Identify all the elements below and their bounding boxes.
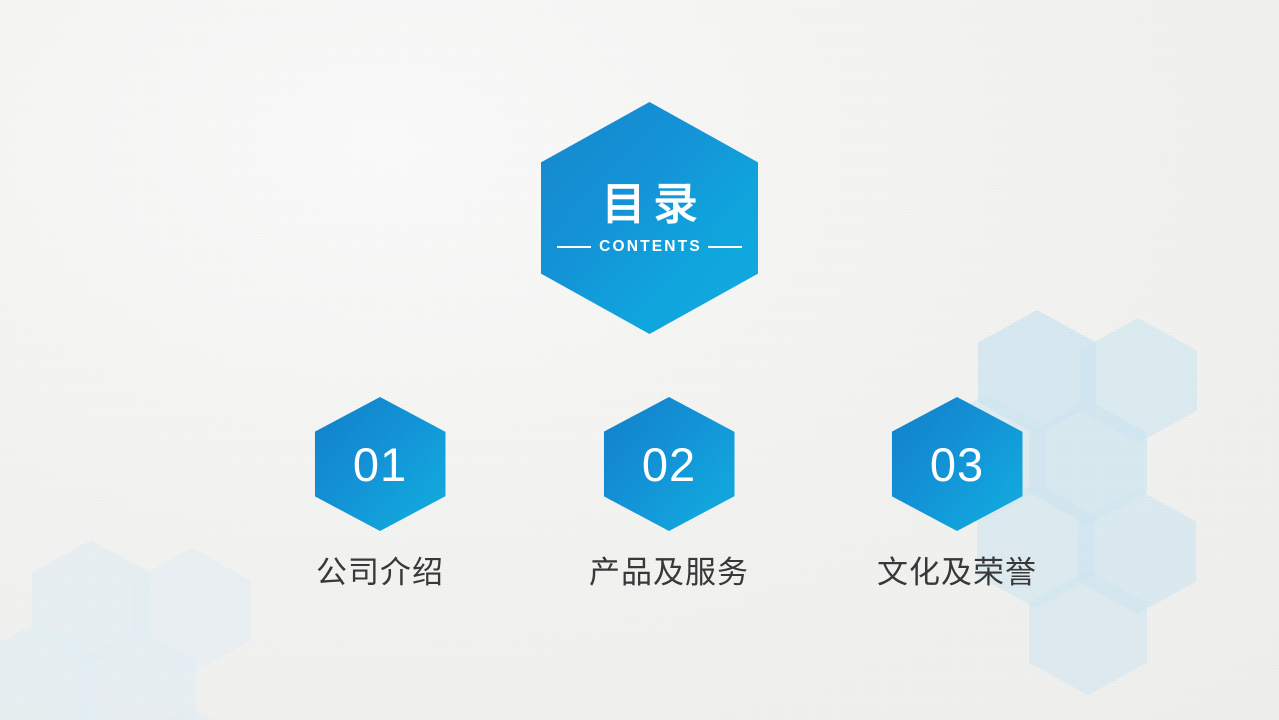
contents-hexagon-content: 目录 CONTENTS <box>541 181 758 255</box>
decorative-hexagon <box>133 548 251 673</box>
agenda-item-02-label: 产品及服务 <box>589 557 749 588</box>
contents-title: 目录 <box>594 183 706 227</box>
contents-subtitle-row: CONTENTS <box>541 239 758 255</box>
decorative-hexagon <box>1079 318 1197 443</box>
agenda-item-01[interactable]: 01 公司介绍 <box>285 397 475 588</box>
decorative-hexagon <box>78 628 196 720</box>
agenda-item-03[interactable]: 03 文化及荣誉 <box>862 397 1052 588</box>
agenda-item-02[interactable]: 02 产品及服务 <box>574 397 764 588</box>
decorative-hexagon <box>130 706 248 720</box>
contents-subtitle: CONTENTS <box>597 239 702 255</box>
contents-hexagon[interactable]: 目录 CONTENTS <box>541 102 758 334</box>
decorative-hexagon <box>0 622 96 720</box>
decorative-hexagon <box>1078 489 1196 614</box>
agenda-item-02-number: 02 <box>604 397 735 531</box>
agenda-item-03-hexagon[interactable]: 03 <box>892 397 1023 531</box>
slide-root: 目录 CONTENTS 01 公司介绍 02 产品及服务 03 文化及荣誉 <box>0 0 1279 720</box>
agenda-item-01-number: 01 <box>315 397 446 531</box>
decorative-hexagon <box>32 540 150 665</box>
agenda-item-03-label: 文化及荣誉 <box>877 557 1037 588</box>
agenda-item-01-label: 公司介绍 <box>316 557 444 588</box>
agenda-item-02-hexagon[interactable]: 02 <box>604 397 735 531</box>
rule-left-icon <box>557 246 591 248</box>
agenda-item-03-number: 03 <box>892 397 1023 531</box>
rule-right-icon <box>708 246 742 248</box>
agenda-item-01-hexagon[interactable]: 01 <box>315 397 446 531</box>
decorative-hexagon <box>28 702 146 720</box>
decorative-hexagon <box>1029 570 1147 695</box>
